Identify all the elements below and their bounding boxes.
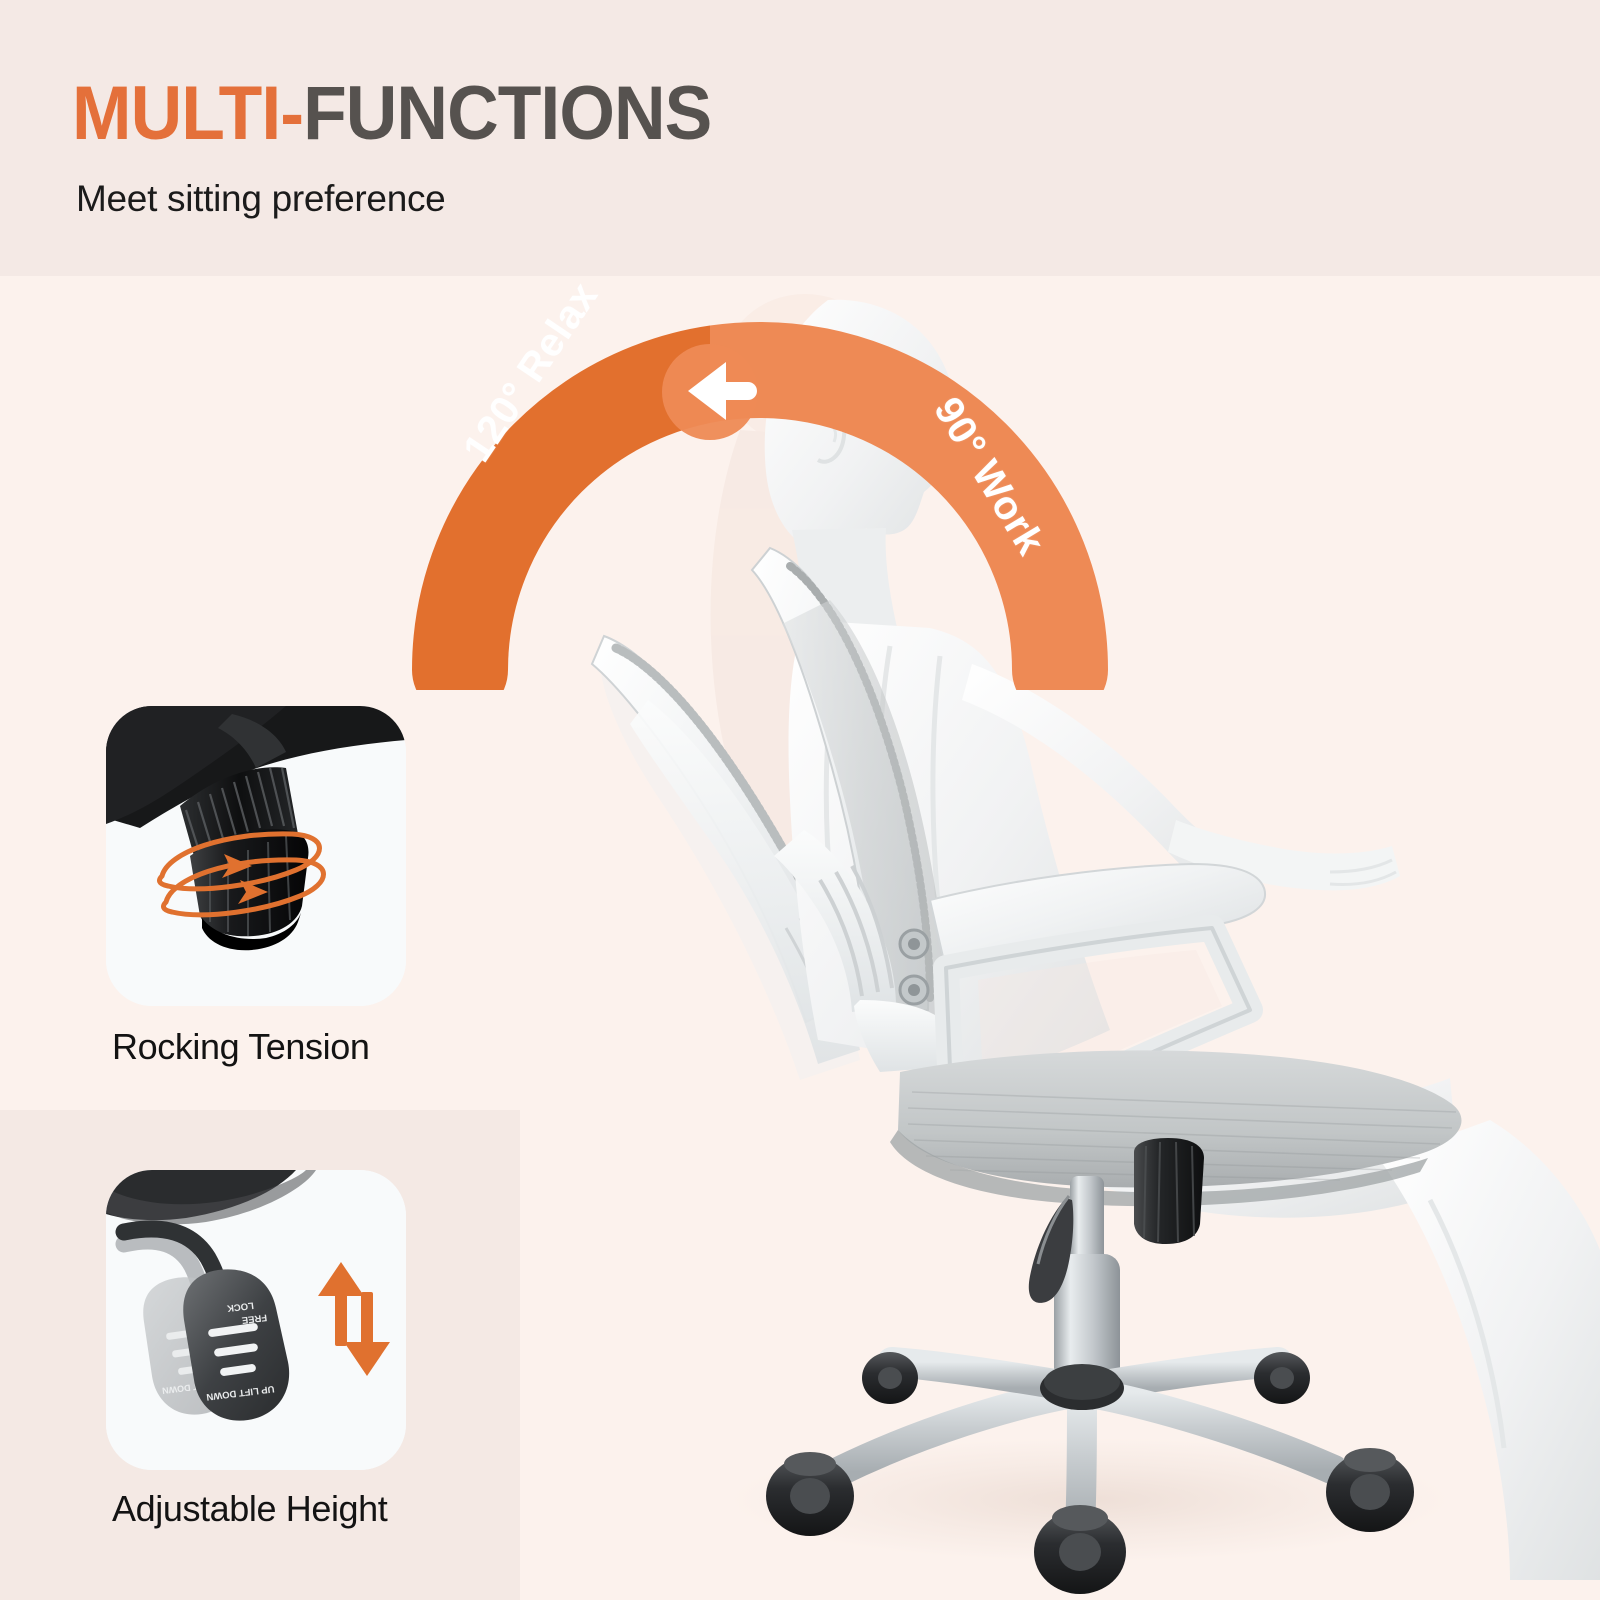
feature-label-rocking-tension: Rocking Tension — [112, 1026, 370, 1068]
feature-card-rocking-tension[interactable] — [106, 706, 406, 1006]
page-title-grey: FUNCTIONS — [303, 71, 711, 156]
page-title: MULTI-FUNCTIONS — [72, 76, 711, 152]
infographic-canvas: MULTI-FUNCTIONS Meet sitting preference — [0, 0, 1600, 1600]
page-title-orange: MULTI- — [72, 71, 303, 156]
feature-card-adjustable-height[interactable]: LOCK FREE UP LIFT DOWN LOCK FREE UP LIFT… — [106, 1170, 406, 1470]
height-lever-icon: LOCK FREE UP LIFT DOWN LOCK FREE UP LIFT… — [106, 1170, 406, 1470]
lower-band-right — [520, 1110, 1600, 1600]
recline-arc: 120° Relax 90° Work — [400, 270, 1120, 690]
feature-label-adjustable-height: Adjustable Height — [112, 1488, 387, 1530]
tension-knob-icon — [106, 706, 406, 1006]
page-subtitle: Meet sitting preference — [76, 178, 445, 220]
